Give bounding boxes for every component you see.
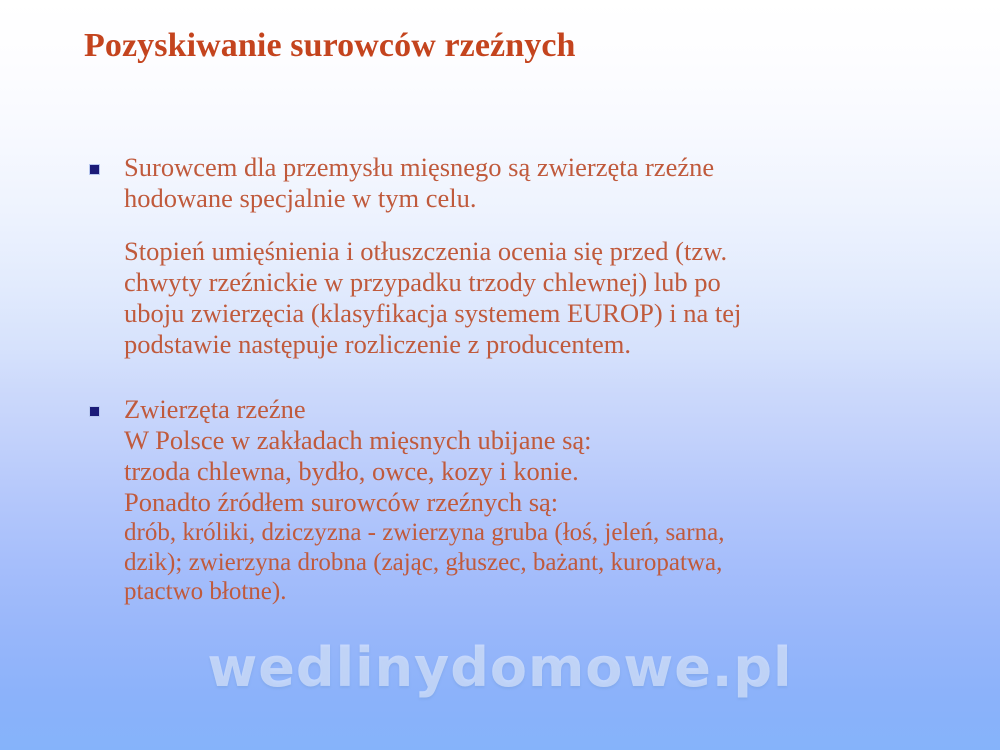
text-line: podstawie następuje rozliczenie z produc… — [124, 329, 964, 360]
text-line: W Polsce w zakładach mięsnych ubijane są… — [124, 425, 964, 456]
paragraph: Zwierzęta rzeźneW Polsce w zakładach mię… — [124, 394, 964, 518]
text-line: chwyty rzeźnickie w przypadku trzody chl… — [124, 267, 964, 298]
square-bullet-icon — [89, 164, 100, 175]
text-line: ptactwo błotne). — [124, 577, 964, 607]
presentation-slide: Pozyskiwanie surowców rzeźnych Surowcem … — [0, 0, 1000, 750]
bullet-block: Surowcem dla przemysłu mięsnego są zwier… — [84, 152, 964, 360]
square-bullet-icon — [89, 406, 100, 417]
text-line: Zwierzęta rzeźne — [124, 394, 964, 425]
text-line: Ponadto źródłem surowców rzeźnych są: — [124, 487, 964, 518]
text-line: trzoda chlewna, bydło, owce, kozy i koni… — [124, 456, 964, 487]
bullet-block: Zwierzęta rzeźneW Polsce w zakładach mię… — [84, 394, 964, 607]
page-title: Pozyskiwanie surowców rzeźnych — [84, 26, 914, 66]
site-watermark: wedlinydomowe.pl — [0, 636, 1000, 699]
text-line: dzik); zwierzyna drobna (zając, głuszec,… — [124, 548, 964, 578]
text-line: drób, króliki, dziczyzna - zwierzyna gru… — [124, 518, 964, 548]
text-line: Surowcem dla przemysłu mięsnego są zwier… — [124, 152, 964, 183]
text-line: hodowane specjalnie w tym celu. — [124, 183, 964, 214]
paragraph: Surowcem dla przemysłu mięsnego są zwier… — [124, 152, 964, 214]
paragraph: drób, króliki, dziczyzna - zwierzyna gru… — [124, 518, 964, 607]
text-line: Stopień umięśnienia i otłuszczenia oceni… — [124, 236, 964, 267]
paragraph: Stopień umięśnienia i otłuszczenia oceni… — [124, 236, 964, 360]
text-line: uboju zwierzęcia (klasyfikacja systemem … — [124, 298, 964, 329]
slide-body: Surowcem dla przemysłu mięsnego są zwier… — [84, 152, 964, 607]
